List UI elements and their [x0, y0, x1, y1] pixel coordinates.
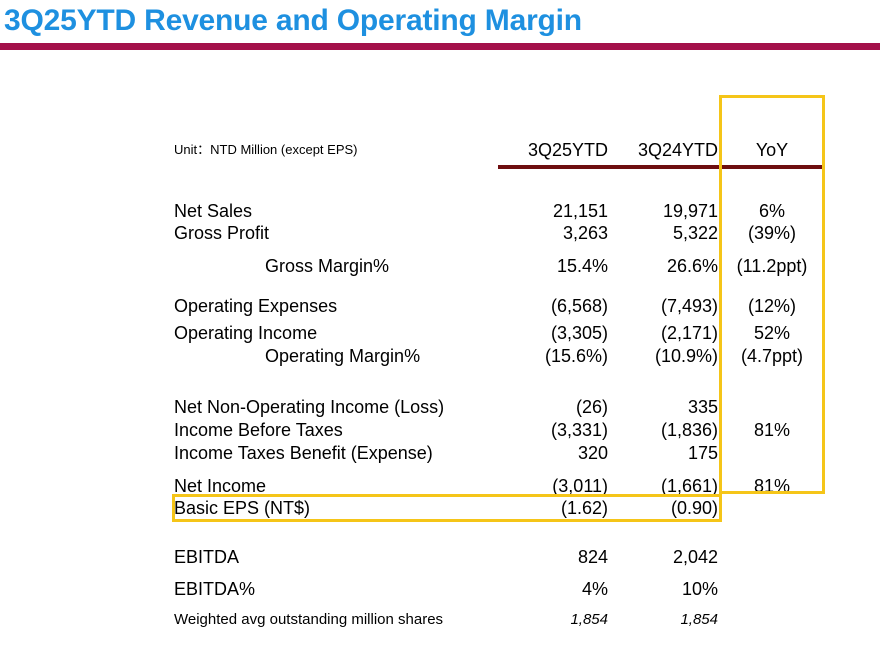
cell-3q24ytd: 19,971 [578, 200, 718, 222]
cell-yoy: (39%) [719, 222, 825, 244]
row-label: Income Taxes Benefit (Expense) [174, 442, 433, 464]
cell-3q24ytd: 2,042 [578, 546, 718, 568]
column-header-yoy: YoY [719, 138, 825, 162]
cell-3q24ytd: 10% [578, 578, 718, 600]
table-row: Weighted avg outstanding million shares1… [0, 608, 880, 630]
row-label: Operating Income [174, 322, 317, 344]
table-row: Gross Profit3,2635,322(39%) [0, 222, 880, 244]
row-label: Gross Margin% [265, 255, 389, 277]
table-row: EBITDA8242,042 [0, 546, 880, 568]
cell-yoy: (11.2ppt) [719, 255, 825, 277]
cell-yoy: 52% [719, 322, 825, 344]
table-row: Net Sales21,15119,9716% [0, 200, 880, 222]
header-underline [498, 165, 825, 169]
cell-3q24ytd: 1,854 [578, 609, 718, 631]
cell-3q24ytd: 335 [578, 396, 718, 418]
table-row: Operating Income(3,305)(2,171)52% [0, 322, 880, 344]
row-label: Weighted avg outstanding million shares [174, 609, 443, 631]
cell-yoy: 81% [719, 419, 825, 441]
cell-3q24ytd: (10.9%) [578, 345, 718, 367]
cell-yoy: (12%) [719, 295, 825, 317]
row-label: Net Sales [174, 200, 252, 222]
financial-summary-table: Unit：NTD Million (except EPS) 3Q25YTD 3Q… [0, 0, 880, 651]
cell-3q24ytd: (0.90) [578, 497, 718, 519]
row-label: EBITDA [174, 546, 239, 568]
cell-3q24ytd: (2,171) [578, 322, 718, 344]
table-row: Operating Margin%(15.6%)(10.9%)(4.7ppt) [0, 345, 880, 367]
table-row: Gross Margin%15.4%26.6%(11.2ppt) [0, 255, 880, 277]
cell-yoy: (4.7ppt) [719, 345, 825, 367]
table-row: Basic EPS (NT$)(1.62)(0.90) [0, 497, 880, 519]
cell-3q24ytd: 175 [578, 442, 718, 464]
cell-yoy: 6% [719, 200, 825, 222]
cell-3q24ytd: 26.6% [578, 255, 718, 277]
table-row: Net Income(3,011)(1,661)81% [0, 475, 880, 497]
row-label: Operating Expenses [174, 295, 337, 317]
row-label: Net Income [174, 475, 266, 497]
row-label: Net Non-Operating Income (Loss) [174, 396, 444, 418]
table-row: EBITDA%4%10% [0, 578, 880, 600]
cell-yoy: 81% [719, 475, 825, 497]
row-label: Income Before Taxes [174, 419, 343, 441]
cell-3q24ytd: (1,836) [578, 419, 718, 441]
column-header-3q24ytd: 3Q24YTD [578, 138, 718, 162]
table-row: Operating Expenses(6,568)(7,493)(12%) [0, 295, 880, 317]
cell-3q24ytd: 5,322 [578, 222, 718, 244]
cell-3q24ytd: (1,661) [578, 475, 718, 497]
table-row: Net Non-Operating Income (Loss)(26)335 [0, 396, 880, 418]
row-label: Gross Profit [174, 222, 269, 244]
unit-note: Unit：NTD Million (except EPS) [174, 140, 358, 160]
cell-3q24ytd: (7,493) [578, 295, 718, 317]
table-row: Income Before Taxes(3,331)(1,836)81% [0, 419, 880, 441]
table-row: Income Taxes Benefit (Expense)320175 [0, 442, 880, 464]
row-label: EBITDA% [174, 578, 255, 600]
row-label: Operating Margin% [265, 345, 420, 367]
row-label: Basic EPS (NT$) [174, 497, 310, 519]
